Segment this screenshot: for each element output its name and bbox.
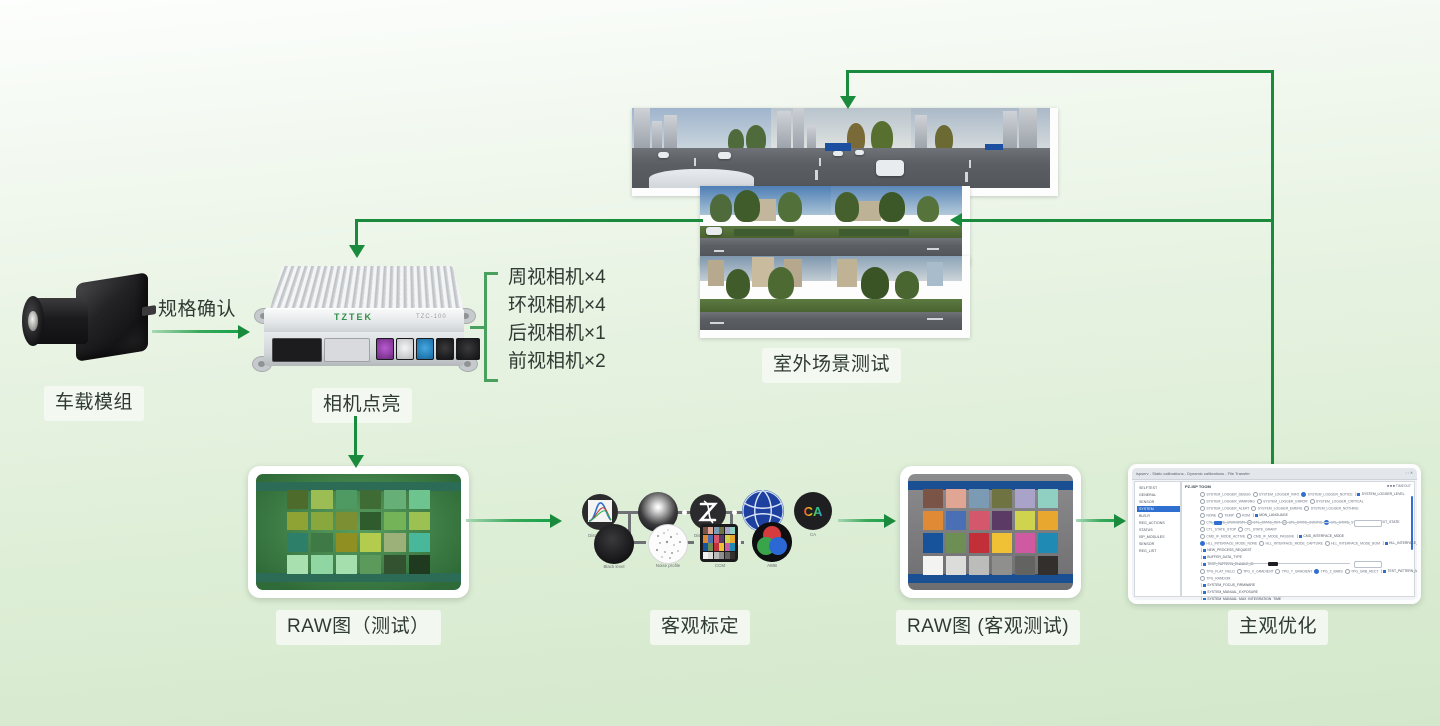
label-ecu: 相机点亮: [312, 388, 412, 423]
software-value-field-1[interactable]: [1354, 520, 1382, 527]
ccm-patch-1: [708, 527, 713, 534]
bracket-top: [484, 272, 498, 275]
feedback-top-arrow: [840, 96, 856, 109]
ecu-port-blue: [416, 338, 434, 360]
color-chart-icon: [700, 524, 738, 562]
patch-green-12: [287, 533, 308, 552]
patch-green-14: [336, 533, 357, 552]
patch-4: [1015, 489, 1035, 508]
calib-label-4: CA: [800, 532, 826, 537]
ccm-patch-4: [725, 527, 730, 534]
software-sidebar-item[interactable]: STATUS: [1137, 527, 1180, 533]
software-slider-track-1[interactable]: [1210, 522, 1350, 523]
patch-23: [1038, 556, 1058, 575]
scene-tile-rear-right: [831, 256, 962, 330]
patch-green-20: [336, 555, 357, 574]
tuning-software-window-icon: ispserv - Static calibrations - Dynamic …: [1128, 464, 1421, 604]
software-sidebar-item[interactable]: GENERAL: [1137, 492, 1180, 498]
scene-tile-front-center: [771, 108, 911, 188]
diagram-canvas: 车载模组 规格确认 TZTEK TZC-100 相机点亮 周视相机×4 环视相机…: [0, 0, 1440, 726]
patch-green-17: [409, 533, 430, 552]
label-camera-module: 车载模组: [44, 386, 144, 421]
noise-speckle-icon: [648, 524, 688, 564]
edge-label-spec-confirm: 规格确认: [158, 294, 236, 321]
patch-17: [1038, 533, 1058, 552]
patch-green-7: [311, 512, 332, 531]
software-parameter-row[interactable]: ] NEW_PROCESS_REQUEST: [1200, 548, 1252, 552]
colorchecker-icon: [900, 466, 1081, 598]
patch-6: [923, 511, 943, 530]
patch-green-19: [311, 555, 332, 574]
calib-label-5: Black level: [592, 564, 636, 569]
ccm-patch-15: [719, 543, 724, 550]
camera-list-line-3: 前视相机×2: [508, 348, 606, 376]
green-tinted-colorchecker-icon: [248, 466, 469, 598]
patch-green-5: [409, 490, 430, 509]
outdoor-bottom-strip: [700, 256, 970, 338]
ccm-patch-2: [714, 527, 719, 534]
calib-edge-dot: [732, 510, 737, 515]
patch-20: [969, 556, 989, 575]
software-parameter-row[interactable]: TPG_FLAT_FIELD TPG_X_GRADIENT TPG_Y_GRAD…: [1200, 569, 1417, 574]
flow-calib-to-rawobj-arrow: [884, 514, 896, 528]
software-slider-knob-1[interactable]: [1214, 521, 1222, 525]
ccm-patch-12: [703, 543, 708, 550]
feedback-trunk-vertical: [1271, 70, 1274, 464]
ccm-patch-19: [708, 552, 713, 559]
colorchecker-grid-green: [287, 490, 431, 574]
software-sidebar-item[interactable]: ISP_MODULES: [1137, 534, 1180, 540]
scene-tile-rear-left: [700, 256, 831, 330]
patch-green-6: [287, 512, 308, 531]
chart-bottom-bar: [256, 573, 461, 582]
ccm-patch-10: [725, 535, 730, 542]
software-sidebar-item[interactable]: SENSOR: [1137, 499, 1180, 505]
patch-green-23: [409, 555, 430, 574]
ccm-patch-20: [714, 552, 719, 559]
feedback-top-horizontal: [846, 70, 1273, 73]
software-value-field-2[interactable]: [1354, 561, 1382, 568]
patch-green-2: [336, 490, 357, 509]
feedback-mid-horizontal: [962, 219, 1273, 222]
label-subjective: 主观优化: [1228, 610, 1328, 645]
label-calibration: 客观标定: [650, 610, 750, 645]
label-outdoor-test: 室外场景测试: [762, 348, 901, 383]
software-main-panel: PZ-ISP TOOM ■ ■ ■ TIMEOUT SYSTEM_LOGGER_…: [1181, 481, 1415, 597]
patch-18: [923, 556, 943, 575]
patch-1: [946, 489, 966, 508]
ccm-patch-21: [719, 552, 724, 559]
software-sidebar-item[interactable]: BUS.R: [1137, 513, 1180, 519]
ccm-patch-23: [730, 552, 735, 559]
ecu-connector-block: [324, 338, 370, 362]
ecu-port-black: [436, 338, 454, 360]
ccm-patch-6: [703, 535, 708, 542]
patch-12: [923, 533, 943, 552]
feedback-mid-arrow: [950, 213, 962, 227]
software-sidebar[interactable]: SELFTESTGENERALSENSORSYSTEMBUS.RREG_ACTI…: [1134, 481, 1181, 597]
outdoor-top-strip: [632, 108, 1058, 196]
outdoor-mid-strip: [700, 186, 970, 266]
ecu-port-black: [456, 338, 480, 360]
ccm-patch-8: [714, 535, 719, 542]
ccm-patch-22: [725, 552, 730, 559]
ecu-heatsink: [270, 266, 465, 311]
camera-lens-glass: [28, 311, 38, 331]
patch-15: [992, 533, 1012, 552]
patch-green-10: [384, 512, 405, 531]
patch-green-18: [287, 555, 308, 574]
flow-rawobj-to-subj-arrow: [1114, 514, 1126, 528]
software-title-text: ispserv - Static calibrations - Dynamic …: [1136, 471, 1250, 476]
colorchecker-grid: [923, 489, 1058, 575]
label-raw-test: RAW图（测试）: [276, 610, 441, 645]
software-sidebar-item[interactable]: REG_ACTIONS: [1137, 520, 1180, 526]
software-parameter-row[interactable]: ] SYSTEM_MANUAL_EXPOSURE: [1200, 590, 1258, 594]
software-scrollbar[interactable]: [1411, 496, 1413, 550]
ecu-connector-block: [272, 338, 322, 362]
camera-list-line-1: 环视相机×4: [508, 292, 606, 320]
flow-raw-to-calib-arrow: [550, 514, 562, 528]
ccm-patch-9: [719, 535, 724, 542]
software-sidebar-item[interactable]: SELFTEST: [1137, 485, 1180, 491]
patch-5: [1038, 489, 1058, 508]
chart-bottom-bar: [908, 574, 1073, 583]
software-sidebar-item[interactable]: REG_LIST: [1137, 548, 1180, 554]
software-parameter-row[interactable]: ] BUFFER_DATA_TYPE: [1200, 555, 1242, 559]
software-window-controls[interactable]: ▫ ▫ ✕: [1405, 471, 1413, 475]
calib-edge-dot: [682, 510, 687, 515]
camera-list-line-2: 后视相机×1: [508, 320, 606, 348]
software-toolbar[interactable]: ■ ■ ■ TIMEOUT: [1387, 484, 1411, 488]
patch-green-22: [384, 555, 405, 574]
software-sidebar-item[interactable]: SYSTEM: [1137, 506, 1180, 512]
bracket-bottom: [484, 379, 498, 382]
ccm-patch-16: [725, 543, 730, 550]
patch-19: [946, 556, 966, 575]
ccm-patch-7: [708, 535, 713, 542]
patch-7: [946, 511, 966, 530]
feedback-left-horizontal: [355, 219, 703, 222]
patch-green-3: [360, 490, 381, 509]
software-parameter-row[interactable]: SYSTEM_LOGGER_ALERT SYSTEM_LOGGER_EMERG …: [1200, 506, 1360, 511]
ecu-device-icon: TZTEK TZC-100: [248, 258, 480, 378]
software-parameter-row[interactable]: SYSTEM_LOGGER_WARNING SYSTEM_LOGGER_ERRO…: [1200, 499, 1365, 504]
bracket-stub: [470, 326, 484, 329]
patch-green-15: [360, 533, 381, 552]
software-parameter-row[interactable]: TPG_RANDOM: [1200, 576, 1232, 581]
ccm-patch-11: [730, 535, 735, 542]
dark-disc-icon: [594, 524, 634, 564]
label-raw-objective: RAW图 (客观测试): [896, 610, 1080, 645]
scene-tile-surround-right: [831, 186, 962, 258]
ccm-patch-3: [719, 527, 724, 534]
patch-green-0: [287, 490, 308, 509]
software-parameter-row[interactable]: NONE TEMP ROM ] MON_LANGUAGE: [1200, 513, 1288, 518]
software-parameter-row[interactable]: CTL_STATE_STOP CTL_STATE_GRANT: [1200, 527, 1279, 532]
software-parameter-row[interactable]: ] SYSTEM_FOCUS_FIRMWARE: [1200, 583, 1255, 587]
ca-text-icon: CA: [794, 492, 832, 530]
patch-21: [992, 556, 1012, 575]
software-parameter-row[interactable]: ] SYSTEM_MANUAL_MAX_INTEGRATION_TIME: [1200, 597, 1281, 600]
flow-ecu-to-raw-line: [354, 416, 357, 460]
software-sidebar-item[interactable]: SENSOR: [1137, 541, 1180, 547]
patch-3: [992, 489, 1012, 508]
spec-confirm-line: [152, 330, 240, 333]
patch-16: [1015, 533, 1035, 552]
patch-0: [923, 489, 943, 508]
ca-text: CA: [804, 504, 823, 519]
patch-22: [1015, 556, 1035, 575]
patch-13: [946, 533, 966, 552]
patch-green-11: [409, 512, 430, 531]
rgb-venn-icon: [752, 522, 792, 562]
ccm-patch-5: [730, 527, 735, 534]
ecu-brand-text: TZTEK: [334, 312, 373, 322]
software-parameter-row[interactable]: CMD_IF_MODE_ACTIVE CMD_IF_MODE_PASSIVE ]…: [1200, 534, 1344, 539]
monitor-screen: [256, 474, 461, 590]
flow-calib-to-rawobj-line: [838, 519, 890, 522]
patch-11: [1038, 511, 1058, 530]
scene-tile-surround-left: [700, 186, 831, 258]
ccm-patch-18: [703, 552, 708, 559]
patch-green-16: [384, 533, 405, 552]
patch-green-9: [360, 512, 381, 531]
patch-green-4: [384, 490, 405, 509]
ccm-patch-0: [703, 527, 708, 534]
patch-10: [1015, 511, 1035, 530]
calib-label-6: Noise profile: [644, 563, 692, 568]
ccm-patch-17: [730, 543, 735, 550]
monitor-screen: [908, 474, 1073, 590]
software-parameter-row[interactable]: SYSTEM_LOGGER_DEBUG SYSTEM_LOGGER_INFO S…: [1200, 492, 1404, 497]
scene-tile-front-right: [911, 108, 1050, 188]
patch-9: [992, 511, 1012, 530]
calibration-pipeline-icon: Distance FF Shading Distance & Tilt Prof…: [566, 486, 826, 576]
camera-module-icon: [22, 272, 150, 364]
flow-ecu-to-raw-arrow: [348, 455, 364, 468]
ecu-port-purple: [376, 338, 394, 360]
scene-tile-front-left: [632, 108, 771, 188]
software-slider-track-2[interactable]: [1210, 563, 1350, 564]
software-window: ispserv - Static calibrations - Dynamic …: [1132, 468, 1417, 600]
patch-8: [969, 511, 989, 530]
patch-green-21: [360, 555, 381, 574]
patch-green-8: [336, 512, 357, 531]
patch-14: [969, 533, 989, 552]
software-slider-knob-2[interactable]: [1268, 562, 1278, 566]
ecu-port-white: [396, 338, 414, 360]
flow-raw-to-calib-line: [466, 519, 552, 522]
calib-label-7: CCM: [706, 563, 734, 568]
camera-list-line-0: 周视相机×4: [508, 264, 606, 292]
ecu-sub-brand-text: TZC-100: [416, 314, 447, 320]
patch-green-13: [311, 533, 332, 552]
calib-label-8: AWB: [758, 563, 786, 568]
patch-2: [969, 489, 989, 508]
bracket-vertical: [484, 272, 487, 382]
ccm-patch-14: [714, 543, 719, 550]
software-parameter-row[interactable]: HLL_INTERFACE_MODE_NONE HLL_INTERFACE_MO…: [1200, 541, 1417, 546]
patch-green-1: [311, 490, 332, 509]
ccm-patch-13: [708, 543, 713, 550]
feedback-left-arrow: [349, 245, 365, 258]
software-tab-label[interactable]: PZ-ISP TOOM: [1185, 484, 1211, 489]
